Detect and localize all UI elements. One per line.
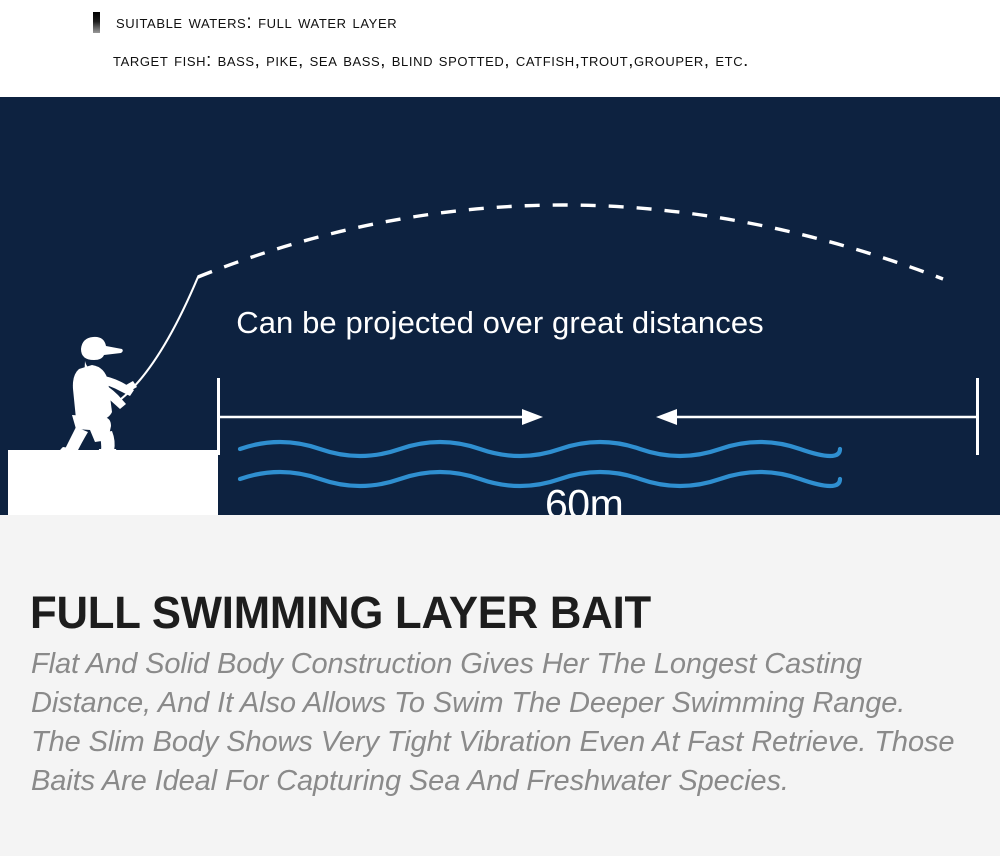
- arrow-right-icon: [522, 409, 543, 425]
- product-copy-body: Flat And Solid Body Construction Gives H…: [31, 645, 961, 801]
- arrow-left-icon: [656, 409, 677, 425]
- cast-caption-text: Can be projected over great distances: [0, 305, 1000, 341]
- product-copy-title: FULL SWIMMING LAYER BAIT: [30, 587, 651, 639]
- suitable-waters-text: Suitable waters: full water layer: [116, 12, 397, 34]
- product-copy-section: FULL SWIMMING LAYER BAIT Flat And Solid …: [0, 515, 1000, 856]
- specs-header: Suitable waters: full water layer Target…: [0, 0, 1000, 97]
- water-waves-icon: [240, 442, 840, 486]
- target-fish-text: Target fish: bass, pike, sea bass, blind…: [113, 49, 749, 71]
- casting-illustration: Can be projected over great distances 60…: [0, 97, 1000, 515]
- distance-label-text: 60m: [545, 482, 623, 515]
- dock-platform: [8, 450, 218, 515]
- gradient-bar-marker-icon: [93, 12, 100, 33]
- dashed-cast-arc-icon: [198, 205, 943, 279]
